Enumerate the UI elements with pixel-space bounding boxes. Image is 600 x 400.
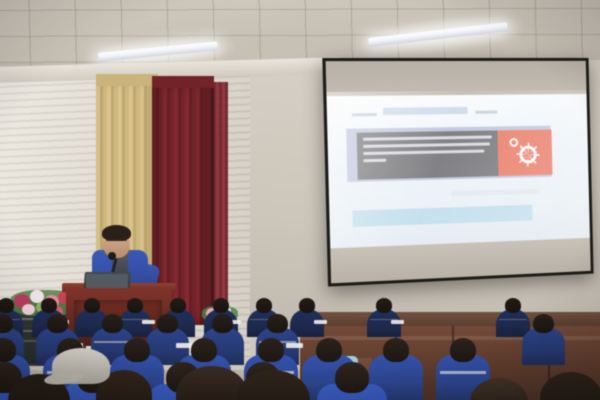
vignette [0,0,600,400]
photo-scene [0,0,600,400]
